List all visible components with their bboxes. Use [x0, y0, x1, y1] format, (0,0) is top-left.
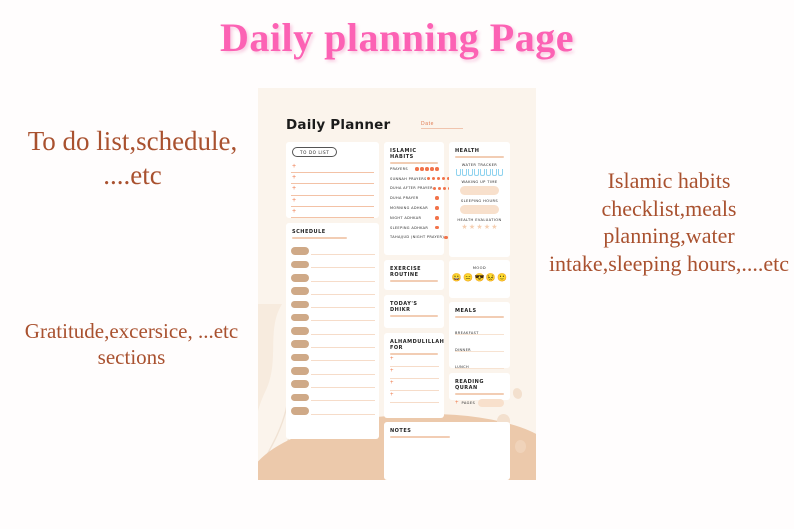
plus-icon: + [455, 400, 459, 406]
schedule-section: SCHEDULE [286, 223, 379, 439]
schedule-write-line [311, 294, 375, 295]
habit-dots [444, 236, 448, 240]
water-glass-icon[interactable] [474, 169, 479, 176]
schedule-time-slot[interactable] [291, 407, 309, 415]
mood-faces[interactable]: 😀😑😎😣🙂 [455, 273, 504, 282]
habit-dot[interactable] [437, 177, 441, 181]
waking-up-time-input[interactable] [460, 186, 499, 195]
star-icon[interactable]: ★ [469, 224, 475, 232]
schedule-row[interactable] [291, 298, 375, 311]
schedule-row[interactable] [291, 365, 375, 378]
schedule-time-slot[interactable] [291, 340, 309, 348]
mood-header: MOOD 😀😑😎😣🙂 [455, 266, 504, 282]
quran-pages-row: + PAGES [455, 399, 504, 407]
daily-planner-card: Daily Planner Date TO DO LIST +++++ SCHE… [258, 88, 536, 480]
water-glass-icon[interactable] [492, 169, 497, 176]
meal-rows: BREAKFASTDINNERLUNCH [455, 321, 504, 372]
sleeping-hours-input[interactable] [460, 205, 499, 214]
habit-dot[interactable] [442, 177, 446, 181]
schedule-write-line [311, 360, 375, 361]
schedule-row[interactable] [291, 405, 375, 418]
caption-todo-schedule: To do list,schedule, ....etc [10, 124, 255, 192]
schedule-time-slot[interactable] [291, 380, 309, 388]
schedule-heading: SCHEDULE [292, 229, 347, 235]
star-icon[interactable]: ★ [491, 224, 497, 232]
meal-row[interactable]: LUNCH [455, 355, 504, 372]
section-rule [390, 436, 450, 438]
habit-dot[interactable] [443, 187, 447, 191]
habit-row: SUNNAH PRAYERS [390, 174, 439, 184]
schedule-row[interactable] [291, 378, 375, 391]
planner-header: Daily Planner Date [286, 116, 516, 138]
schedule-row[interactable] [291, 391, 375, 404]
mood-section: MOOD 😀😑😎😣🙂 [449, 260, 510, 298]
date-underline [421, 128, 463, 129]
schedule-time-slot[interactable] [291, 261, 309, 269]
islamic-habits-list: PRAYERSSUNNAH PRAYERSDUHA AFTER PRAYERDU… [390, 164, 439, 242]
meal-write-line [455, 334, 504, 335]
page-title: Daily planning Page [0, 14, 794, 61]
meal-write-line [455, 351, 504, 352]
schedule-rows [291, 245, 375, 418]
habit-dot[interactable] [438, 187, 442, 191]
habit-label: PRAYERS [390, 167, 415, 171]
plus-icon: + [292, 174, 296, 182]
todo-list-section: TO DO LIST +++++ [286, 142, 379, 218]
water-tracker-glasses[interactable] [455, 169, 504, 176]
habit-row: MORNING ADHKAR [390, 203, 439, 213]
habit-dots [415, 167, 439, 171]
section-rule [455, 156, 504, 158]
waking-up-time-label: WAKING UP TIME [455, 180, 504, 184]
health-evaluation-label: HEALTH EVALUATION [455, 218, 504, 222]
page-root: Daily planning Page To do list,schedule,… [0, 0, 794, 529]
habit-label: SLEEPING ADHKAR [390, 226, 435, 230]
caption-gratitude-exercise: Gratitude,excersice, ...etc sections [4, 318, 259, 371]
plus-icon: + [292, 163, 296, 171]
schedule-write-line [311, 374, 375, 375]
gratitude-row[interactable]: + [390, 367, 439, 379]
meals-heading: MEALS [455, 308, 504, 314]
date-field[interactable]: Date [421, 121, 471, 129]
gratitude-row[interactable]: + [390, 391, 439, 403]
schedule-write-line [311, 307, 375, 308]
mood-face-icon[interactable]: 🙂 [497, 273, 507, 282]
mood-face-icon[interactable]: 😑 [463, 273, 473, 282]
islamic-habits-header: ISLAMIC HABITS [390, 148, 438, 164]
schedule-time-slot[interactable] [291, 274, 309, 282]
habit-label: NIGHT ADHKAR [390, 216, 435, 220]
habit-dots [435, 206, 439, 210]
islamic-habits-heading: ISLAMIC HABITS [390, 148, 438, 160]
habit-dot[interactable] [444, 236, 448, 240]
mood-face-icon[interactable]: 😀 [452, 273, 462, 282]
habit-row: SLEEPING ADHKAR [390, 223, 439, 233]
quran-pages-input[interactable] [478, 399, 504, 407]
notes-header: NOTES [390, 428, 504, 438]
todays-dhikr-header: TODAY'S DHIKR [390, 301, 438, 317]
sleeping-hours-label: SLEEPING HOURS [455, 199, 504, 203]
schedule-write-line [311, 254, 375, 255]
habit-dots [435, 226, 439, 230]
star-icon[interactable]: ★ [484, 224, 490, 232]
todo-list-badge: TO DO LIST [292, 147, 337, 157]
date-label: Date [421, 121, 471, 127]
star-icon[interactable]: ★ [476, 224, 482, 232]
todo-row[interactable]: + [291, 184, 374, 195]
meal-write-line [455, 368, 504, 369]
alhamdulillah-header: ALHAMDULILLAH FOR [390, 339, 438, 355]
habit-dot[interactable] [425, 167, 429, 171]
schedule-time-slot[interactable] [291, 354, 309, 362]
reading-quran-section: READING QURAN + PAGES [449, 373, 510, 400]
plus-icon: + [292, 197, 296, 205]
schedule-time-slot[interactable] [291, 287, 309, 295]
habit-dot[interactable] [435, 216, 439, 220]
habit-label: DUHA AFTER PRAYER [390, 186, 433, 190]
exercise-routine-heading: EXERCISE ROUTINE [390, 266, 438, 278]
meal-row[interactable]: DINNER [455, 338, 504, 355]
meal-row[interactable]: BREAKFAST [455, 321, 504, 338]
water-tracker-label: WATER TRACKER [455, 163, 504, 167]
plus-icon: + [390, 368, 394, 375]
water-glass-icon[interactable] [456, 169, 461, 176]
water-glass-icon[interactable] [462, 169, 467, 176]
schedule-write-line [311, 400, 375, 401]
todo-row[interactable]: + [291, 173, 374, 184]
schedule-write-line [311, 347, 375, 348]
habit-row: NIGHT ADHKAR [390, 213, 439, 223]
schedule-row[interactable] [291, 311, 375, 324]
health-header: HEALTH WATER TRACKER WAKING UP TIME SLEE… [455, 148, 504, 232]
schedule-row[interactable] [291, 338, 375, 351]
habit-dot[interactable] [435, 167, 439, 171]
habit-dot[interactable] [433, 187, 437, 191]
schedule-row[interactable] [291, 258, 375, 271]
plus-icon: + [292, 185, 296, 193]
star-icon[interactable]: ★ [461, 224, 467, 232]
habit-dot[interactable] [435, 196, 439, 200]
health-heading: HEALTH [455, 148, 504, 154]
todo-row[interactable]: + [291, 207, 374, 218]
meals-header: MEALS BREAKFASTDINNERLUNCH [455, 308, 504, 372]
gratitude-row[interactable]: + [390, 355, 439, 367]
exercise-routine-header: EXERCISE ROUTINE [390, 266, 438, 282]
planner-title: Daily Planner [286, 117, 390, 133]
habit-row: DUHA AFTER PRAYER [390, 184, 439, 194]
exercise-routine-section: EXERCISE ROUTINE [384, 260, 444, 290]
schedule-time-slot[interactable] [291, 394, 309, 402]
schedule-header: SCHEDULE [292, 229, 347, 239]
schedule-write-line [311, 387, 375, 388]
notes-section: NOTES [384, 422, 510, 480]
notes-heading: NOTES [390, 428, 504, 434]
habit-row: DUHA PRAYER [390, 193, 439, 203]
habit-label: SUNNAH PRAYERS [390, 177, 427, 181]
section-rule [455, 316, 504, 318]
meals-section: MEALS BREAKFASTDINNERLUNCH [449, 302, 510, 368]
schedule-write-line [311, 320, 375, 321]
health-evaluation-stars[interactable]: ★★★★★ [455, 224, 504, 232]
todo-row[interactable]: + [291, 162, 374, 173]
habit-dots [427, 177, 451, 181]
habit-dots [435, 196, 439, 200]
todays-dhikr-heading: TODAY'S DHIKR [390, 301, 438, 313]
section-rule [292, 237, 347, 239]
habit-dot[interactable] [427, 177, 431, 181]
schedule-write-line [311, 334, 375, 335]
alhamdulillah-heading: ALHAMDULILLAH FOR [390, 339, 438, 351]
reading-quran-heading: READING QURAN [455, 379, 504, 391]
schedule-time-slot[interactable] [291, 314, 309, 322]
gratitude-row[interactable]: + [390, 379, 439, 391]
alhamdulillah-section: ALHAMDULILLAH FOR ++++ [384, 333, 444, 418]
schedule-write-line [311, 414, 375, 415]
schedule-write-line [311, 267, 375, 268]
schedule-time-slot[interactable] [291, 301, 309, 309]
habit-dot[interactable] [430, 167, 434, 171]
plus-icon: + [390, 380, 394, 387]
reading-quran-header: READING QURAN + PAGES [455, 379, 504, 407]
mood-face-icon[interactable]: 😎 [475, 273, 485, 282]
section-rule [455, 393, 504, 395]
habit-dot[interactable] [432, 177, 436, 181]
plus-icon: + [390, 356, 394, 363]
habit-row: TAHAJJUD (NIGHT PRAYER) [390, 233, 439, 243]
schedule-row[interactable] [291, 351, 375, 364]
schedule-row[interactable] [291, 245, 375, 258]
water-glass-icon[interactable] [486, 169, 491, 176]
schedule-time-slot[interactable] [291, 367, 309, 375]
schedule-row[interactable] [291, 272, 375, 285]
schedule-write-line [311, 281, 375, 282]
schedule-row[interactable] [291, 285, 375, 298]
islamic-habits-section: ISLAMIC HABITS PRAYERSSUNNAH PRAYERSDUHA… [384, 142, 444, 255]
caption-islamic-habits: Islamic habits checklist,meals planning,… [545, 167, 793, 278]
todo-row[interactable]: + [291, 196, 374, 207]
habit-dot[interactable] [415, 167, 419, 171]
mood-label: MOOD [455, 266, 504, 270]
habit-dot[interactable] [435, 226, 439, 230]
schedule-row[interactable] [291, 325, 375, 338]
habit-label: DUHA PRAYER [390, 196, 435, 200]
quran-pages-label: PAGES [462, 401, 476, 405]
plus-icon: + [390, 392, 394, 399]
alhamdulillah-rows: ++++ [390, 355, 439, 403]
mood-face-icon[interactable]: 😣 [486, 273, 496, 282]
habit-label: TAHAJJUD (NIGHT PRAYER) [390, 235, 444, 239]
water-glass-icon[interactable] [480, 169, 485, 176]
health-section: HEALTH WATER TRACKER WAKING UP TIME SLEE… [449, 142, 510, 257]
todays-dhikr-section: TODAY'S DHIKR [384, 295, 444, 328]
plus-icon: + [292, 208, 296, 216]
habit-dot[interactable] [435, 206, 439, 210]
habit-label: MORNING ADHKAR [390, 206, 435, 210]
todo-rows: +++++ [291, 162, 374, 218]
water-glass-icon[interactable] [498, 169, 503, 176]
habit-dot[interactable] [420, 167, 424, 171]
habit-dots [435, 216, 439, 220]
schedule-time-slot[interactable] [291, 247, 309, 255]
habit-row: PRAYERS [390, 164, 439, 174]
section-rule [390, 315, 438, 317]
water-glass-icon[interactable] [468, 169, 473, 176]
schedule-time-slot[interactable] [291, 327, 309, 335]
section-rule [390, 280, 438, 282]
